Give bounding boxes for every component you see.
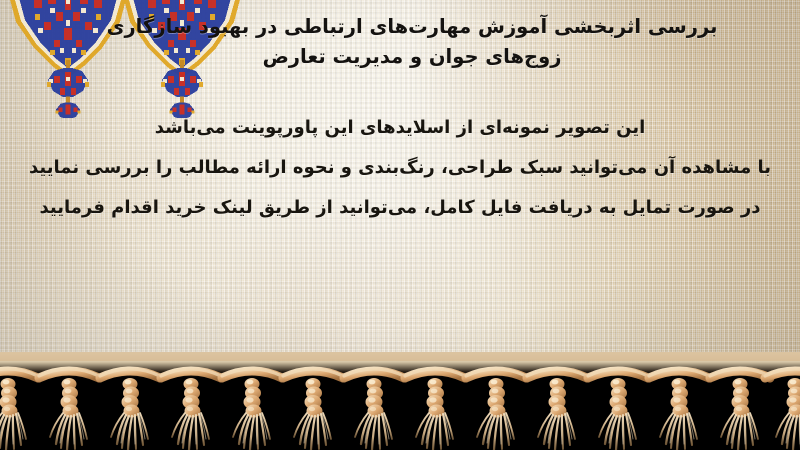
slide-body: این تصویر نمونه‌ای از اسلایدهای این پاور…: [0, 108, 800, 228]
slide-title: بررسی اثربخشی آموزش مهارت‌های ارتباطی در…: [10, 12, 800, 72]
carpet-fringe-band: [0, 352, 800, 450]
slide-body-line-1: این تصویر نمونه‌ای از اسلایدهای این پاور…: [0, 108, 800, 148]
carpet-fringe-tassels-icon: [0, 352, 800, 450]
slide-text-layer: بررسی اثربخشی آموزش مهارت‌های ارتباطی در…: [0, 0, 800, 374]
slide-canvas: بررسی اثربخشی آموزش مهارت‌های ارتباطی در…: [0, 0, 800, 450]
slide-title-line-1: بررسی اثربخشی آموزش مهارت‌های ارتباطی در…: [24, 12, 800, 42]
slide-body-line-3: در صورت تمایل به دریافت فایل کامل، می‌تو…: [0, 188, 800, 228]
slide-title-line-2: زوج‌های جوان و مدیریت تعارض: [24, 42, 800, 72]
slide-body-line-2: با مشاهده آن می‌توانید سبک طراحی، رنگ‌بن…: [0, 148, 800, 188]
